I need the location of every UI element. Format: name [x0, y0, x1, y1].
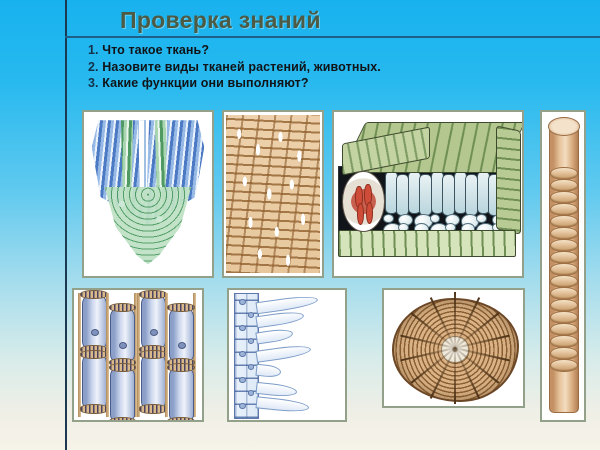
question-number: 2.: [88, 60, 99, 74]
list-item: 2. Назовите виды тканей растений, животн…: [88, 59, 508, 76]
list-item: 3. Какие функции они выполняют?: [88, 75, 508, 92]
question-number: 3.: [88, 76, 99, 90]
page-title: Проверка знаний: [120, 4, 420, 36]
question-list: 1. Что такое ткань? 2. Назовите виды тка…: [88, 42, 508, 92]
phloem-sieve-tubes-illustration: [74, 290, 202, 420]
image-panel-spiral-xylem-vessel: [540, 110, 586, 422]
image-panel-phloem-sieve-tubes: [72, 288, 204, 422]
root-hair-cells-illustration: [229, 290, 345, 420]
question-text: Назовите виды тканей растений, животных.: [102, 60, 381, 74]
question-number: 1.: [88, 43, 99, 57]
image-panel-root-hair-cells: [227, 288, 347, 422]
woody-stem-section-illustration: [384, 290, 523, 406]
image-panel-root-tip-meristem: [82, 110, 214, 278]
image-panel-leaf-cross-section: [332, 110, 524, 278]
image-panel-sclerenchyma: [222, 110, 324, 278]
question-text: Какие функции они выполняют?: [102, 76, 308, 90]
horizontal-rule: [65, 36, 600, 38]
root-tip-meristem-illustration: [84, 112, 212, 276]
question-text: Что такое ткань?: [102, 43, 209, 57]
image-panel-woody-stem-section: [382, 288, 525, 408]
list-item: 1. Что такое ткань?: [88, 42, 508, 59]
vascular-bundle: [342, 171, 385, 232]
slide: Проверка знаний 1. Что такое ткань? 2. Н…: [0, 0, 600, 450]
spiral-xylem-vessel-illustration: [542, 112, 584, 420]
sclerenchyma-illustration: [224, 112, 322, 276]
vertical-rule: [65, 0, 67, 450]
leaf-cross-section-illustration: [334, 112, 522, 276]
